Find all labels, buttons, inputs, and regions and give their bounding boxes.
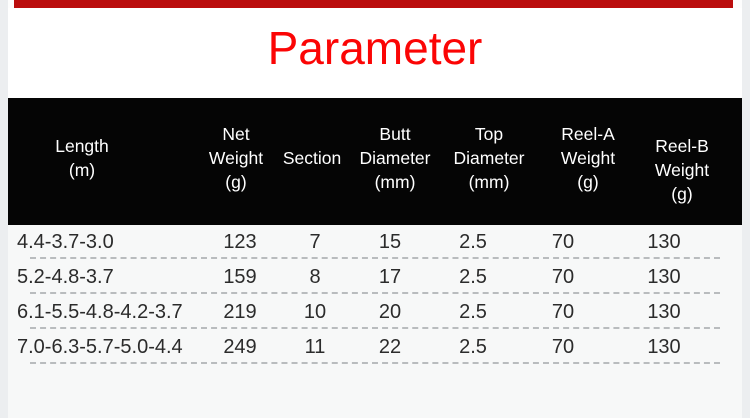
cell-butt-diameter: 15 [379,229,401,255]
table-row[interactable]: 7.0-6.3-5.7-5.0-4.4 249 11 22 2.5 70 130 [8,330,742,365]
cell-section: 10 [304,299,326,325]
table-row[interactable]: 5.2-4.8-3.7 159 8 17 2.5 70 130 [8,260,742,295]
cell-reel-a-weight: 70 [552,299,574,325]
cell-net-weight: 159 [223,264,256,290]
cell-top-diameter: 2.5 [459,299,487,325]
table-header-row: Length (m) Net Weight (g) Section Butt D… [8,98,742,225]
table-row[interactable]: 4.4-3.7-3.0 123 7 15 2.5 70 130 [8,225,742,260]
row-divider [30,362,720,364]
row-divider [30,327,720,329]
cell-length: 6.1-5.5-4.8-4.2-3.7 [17,299,183,325]
cell-reel-a-weight: 70 [552,229,574,255]
parameter-spec-sheet: Parameter Length (m) Net Weight (g) Sect… [0,0,750,418]
cell-reel-b-weight: 130 [647,299,680,325]
cell-reel-b-weight: 130 [647,229,680,255]
cell-reel-a-weight: 70 [552,264,574,290]
column-header-length: Length (m) [18,134,146,182]
cell-butt-diameter: 20 [379,299,401,325]
cell-butt-diameter: 22 [379,334,401,360]
cell-net-weight: 219 [223,299,256,325]
cell-net-weight: 123 [223,229,256,255]
page-title: Parameter [8,22,742,74]
cell-reel-b-weight: 130 [647,264,680,290]
cell-section: 11 [305,334,326,360]
cell-reel-a-weight: 70 [552,334,574,360]
cell-top-diameter: 2.5 [459,264,487,290]
cell-reel-b-weight: 130 [647,334,680,360]
cell-length: 4.4-3.7-3.0 [17,229,114,255]
cell-top-diameter: 2.5 [459,229,487,255]
cell-length: 5.2-4.8-3.7 [17,264,114,290]
row-divider [30,257,720,259]
cell-length: 7.0-6.3-5.7-5.0-4.4 [17,334,183,360]
table-row[interactable]: 6.1-5.5-4.8-4.2-3.7 219 10 20 2.5 70 130 [8,295,742,330]
cell-section: 7 [309,229,320,255]
column-header-reel-b-weight: Reel-B Weight (g) [624,134,740,206]
cell-net-weight: 249 [223,334,256,360]
title-band: Parameter [8,8,742,98]
row-divider [30,292,720,294]
table-body: 4.4-3.7-3.0 123 7 15 2.5 70 130 5.2-4.8-… [8,225,742,418]
top-red-rule [14,0,733,8]
cell-butt-diameter: 17 [379,264,401,290]
cell-section: 8 [309,264,320,290]
cell-top-diameter: 2.5 [459,334,487,360]
